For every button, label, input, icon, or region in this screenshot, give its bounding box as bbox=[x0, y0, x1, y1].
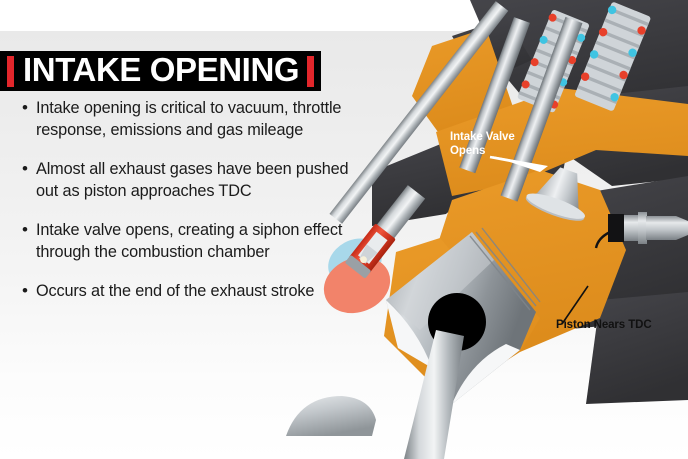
bullet-marker: • bbox=[22, 219, 36, 263]
list-item: • Almost all exhaust gases have been pus… bbox=[22, 158, 352, 202]
title-accent-bar-left bbox=[7, 56, 14, 87]
annotation-piston-nears-tdc: Piston Nears TDC bbox=[556, 319, 652, 333]
slide-canvas: INTAKE OPENING • Intake opening is criti… bbox=[0, 0, 688, 459]
bullet-marker: • bbox=[22, 158, 36, 202]
bullet-text: Almost all exhaust gases have been pushe… bbox=[36, 158, 352, 202]
list-item: • Intake opening is critical to vacuum, … bbox=[22, 97, 352, 141]
background-top-band bbox=[0, 0, 688, 33]
slide-title-bar: INTAKE OPENING bbox=[0, 51, 321, 91]
bullet-text: Occurs at the end of the exhaust stroke bbox=[36, 280, 314, 302]
list-item: • Intake valve opens, creating a siphon … bbox=[22, 219, 352, 263]
bullet-marker: • bbox=[22, 280, 36, 302]
bullet-text: Intake opening is critical to vacuum, th… bbox=[36, 97, 352, 141]
page-title: INTAKE OPENING bbox=[14, 53, 307, 89]
title-accent-bar-right bbox=[307, 56, 314, 87]
annotation-intake-valve-opens: Intake Valve Opens bbox=[450, 131, 515, 158]
list-item: • Occurs at the end of the exhaust strok… bbox=[22, 280, 352, 302]
bullet-marker: • bbox=[22, 97, 36, 141]
bullet-text: Intake valve opens, creating a siphon ef… bbox=[36, 219, 352, 263]
bullet-list: • Intake opening is critical to vacuum, … bbox=[22, 97, 352, 319]
